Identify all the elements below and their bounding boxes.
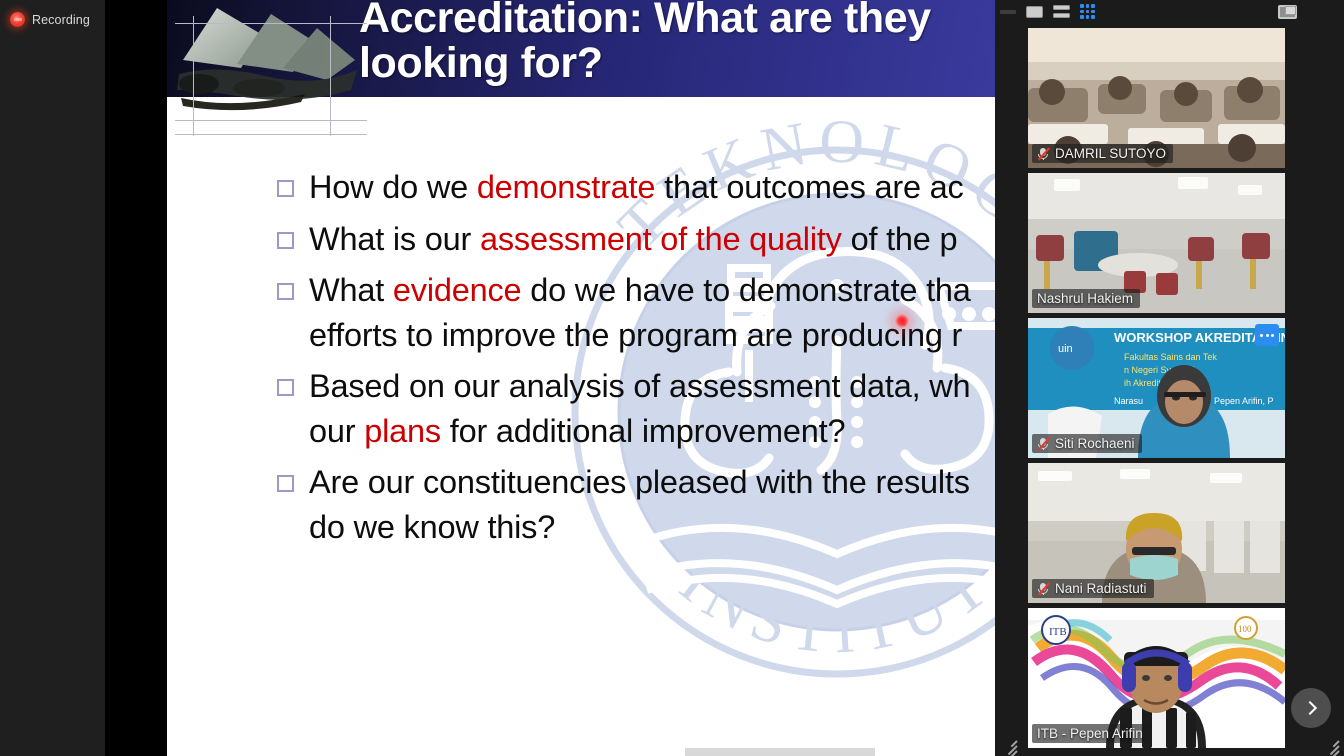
participant-tile[interactable]: Nashrul Hakiem xyxy=(1028,173,1285,313)
svg-text:uin: uin xyxy=(1058,343,1073,355)
participant-tile[interactable]: Nani Radiastuti xyxy=(1028,463,1285,603)
split-view-button[interactable] xyxy=(1048,0,1075,23)
speaker-view-button[interactable] xyxy=(1021,0,1048,23)
minimize-icon xyxy=(1000,10,1016,14)
bullet-square-icon xyxy=(277,180,294,197)
picture-in-picture-button[interactable] xyxy=(1273,0,1302,23)
minimize-button[interactable] xyxy=(995,0,1021,23)
shared-screen-stage: TEKNOLOGI INSTITUT xyxy=(105,0,995,756)
bullet-text: Based on our analysis of assessment data… xyxy=(309,364,970,453)
participant-name: DAMRIL SUTOYO xyxy=(1055,146,1166,161)
next-page-button[interactable] xyxy=(1291,688,1331,728)
single-pane-icon xyxy=(1026,6,1043,18)
pip-icon xyxy=(1278,5,1297,19)
bullet-square-icon xyxy=(277,283,294,300)
microphone-muted-icon xyxy=(1037,147,1050,161)
list-item: Are our constituencies pleased with the … xyxy=(277,460,995,549)
record-dot-icon xyxy=(10,12,25,27)
list-item: Based on our analysis of assessment data… xyxy=(277,364,995,453)
tile-more-options-button[interactable] xyxy=(1255,324,1279,346)
chevron-right-icon xyxy=(1302,701,1316,715)
bullet-text: What is our assessment of the quality of… xyxy=(309,217,957,262)
microphone-muted-icon xyxy=(1037,437,1050,451)
bullet-text: What evidence do we have to demonstrate … xyxy=(309,268,971,357)
bullet-text: Are our constituencies pleased with the … xyxy=(309,460,970,549)
participant-name-badge: Siti Rochaeni xyxy=(1032,434,1142,453)
recording-indicator[interactable]: Recording xyxy=(10,12,90,27)
participant-tile-active-speaker[interactable]: ITB 100 ITB - Pepen Arifin xyxy=(1028,608,1285,748)
participant-name: Nani Radiastuti xyxy=(1055,581,1147,596)
list-item: What evidence do we have to demonstrate … xyxy=(277,268,995,357)
recording-label: Recording xyxy=(32,13,90,27)
gallery-view-button[interactable] xyxy=(1075,0,1100,23)
participant-video-panel: DAMRIL SUTOYO Nashrul Hakiem xyxy=(995,0,1344,756)
presentation-slide: TEKNOLOGI INSTITUT xyxy=(167,0,995,756)
bullet-square-icon xyxy=(277,475,294,492)
list-item: How do we demonstrate that outcomes are … xyxy=(277,165,995,210)
rock-artwork-icon xyxy=(175,0,360,118)
slide-bullet-list: How do we demonstrate that outcomes are … xyxy=(277,165,995,556)
slide-bottom-edge xyxy=(685,748,875,756)
video-panel-toolbar xyxy=(995,0,1344,23)
bullet-text: How do we demonstrate that outcomes are … xyxy=(309,165,964,210)
participant-tile[interactable]: WORKSHOP AKREDITASI INT Fakultas Sains d… xyxy=(1028,318,1285,458)
svg-text:Narasu: Narasu xyxy=(1114,396,1143,406)
slide-title: Accreditation: What are they looking for… xyxy=(359,0,989,85)
participant-name: Nashrul Hakiem xyxy=(1037,291,1133,306)
participant-name: ITB - Pepen Arifin xyxy=(1037,726,1143,741)
bullet-square-icon xyxy=(277,379,294,396)
participant-name-badge: Nashrul Hakiem xyxy=(1032,289,1140,308)
zoom-screen-share-window: Recording TEKNOLOGI INSTITUT xyxy=(0,0,1344,756)
slide-decoration-graphic xyxy=(167,0,367,144)
list-item: What is our assessment of the quality of… xyxy=(277,217,995,262)
participant-name-badge: ITB - Pepen Arifin xyxy=(1032,724,1150,743)
left-sidebar: Recording xyxy=(0,0,105,756)
microphone-muted-icon xyxy=(1037,582,1050,596)
svg-text:ITB: ITB xyxy=(1049,626,1067,638)
participant-name-badge: Nani Radiastuti xyxy=(1032,579,1154,598)
participant-name-badge: DAMRIL SUTOYO xyxy=(1032,144,1173,163)
participant-name: Siti Rochaeni xyxy=(1055,436,1135,451)
svg-text:INSTITUT: INSTITUT xyxy=(668,548,995,667)
split-pane-icon xyxy=(1053,5,1070,18)
grid-view-icon xyxy=(1080,4,1095,19)
participant-tile[interactable]: DAMRIL SUTOYO xyxy=(1028,28,1285,168)
svg-text:Pepen Arifin, P: Pepen Arifin, P xyxy=(1214,396,1274,406)
resize-grip-right[interactable] xyxy=(1317,732,1339,754)
bullet-square-icon xyxy=(277,232,294,249)
svg-text:100: 100 xyxy=(1238,624,1252,634)
svg-text:Fakultas Sains dan Tek: Fakultas Sains dan Tek xyxy=(1124,352,1217,362)
laser-pointer-dot xyxy=(894,313,910,329)
resize-grip-left[interactable] xyxy=(995,732,1017,754)
